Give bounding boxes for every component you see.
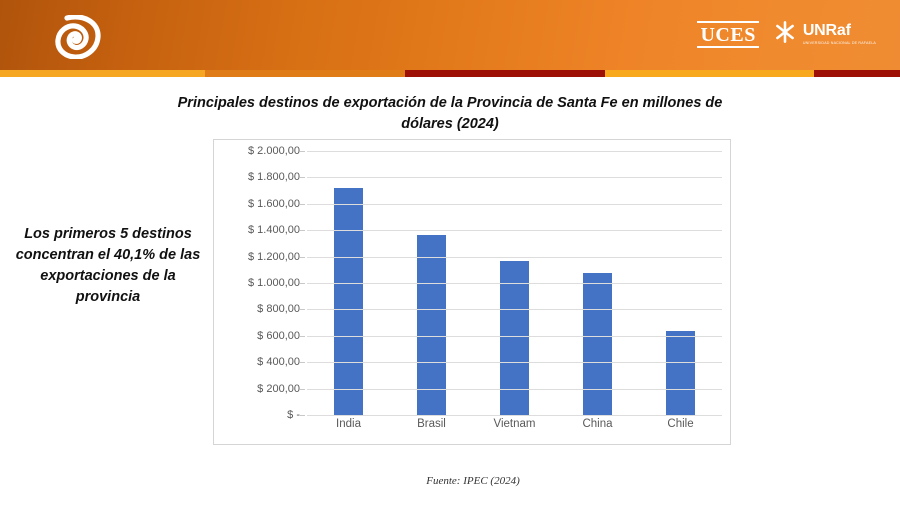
x-axis-label-brasil: Brasil bbox=[390, 418, 473, 430]
y-axis-tick-label: $ 800,00 bbox=[257, 303, 300, 315]
gridline bbox=[307, 230, 722, 231]
stripe-darkred-1 bbox=[405, 70, 605, 77]
gridline bbox=[307, 415, 722, 416]
bar-india[interactable] bbox=[334, 188, 363, 415]
stripe-amber-1 bbox=[0, 70, 205, 77]
y-axis-tick-label: $ 600,00 bbox=[257, 330, 300, 342]
gridline bbox=[307, 151, 722, 152]
plot-area bbox=[307, 151, 722, 415]
x-axis-label-china: China bbox=[556, 418, 639, 430]
gridline bbox=[307, 204, 722, 205]
y-axis-tickmark bbox=[300, 283, 305, 284]
page-header: UCES UNRaf UNIVERSIDAD NACIONAL DE RAFAE… bbox=[0, 0, 900, 70]
y-axis-tick-label: $ 1.800,00 bbox=[248, 171, 300, 183]
gridline bbox=[307, 336, 722, 337]
unraf-logo-text: UNRaf UNIVERSIDAD NACIONAL DE RAFAELA bbox=[803, 23, 876, 46]
x-axis-label-vietnam: Vietnam bbox=[473, 418, 556, 430]
y-axis-tick-label: $ 1.200,00 bbox=[248, 251, 300, 263]
spiral-eye-logo bbox=[55, 15, 101, 59]
header-logos: UCES UNRaf UNIVERSIDAD NACIONAL DE RAFAE… bbox=[697, 20, 876, 49]
chart-plot-wrapper: $ 2.000,00$ 1.800,00$ 1.600,00$ 1.400,00… bbox=[214, 140, 730, 444]
y-axis-tick-label: $ 2.000,00 bbox=[248, 145, 300, 157]
y-axis-tickmark bbox=[300, 151, 305, 152]
y-axis-tickmark bbox=[300, 362, 305, 363]
asterisk-star-icon bbox=[773, 20, 797, 49]
gridline bbox=[307, 257, 722, 258]
x-axis: IndiaBrasilVietnamChinaChile bbox=[307, 418, 722, 430]
stripe-amber-2 bbox=[605, 70, 815, 77]
y-axis-tick-label: $ 200,00 bbox=[257, 383, 300, 395]
stripe-darkred-2 bbox=[814, 70, 900, 77]
y-axis-tickmark bbox=[300, 389, 305, 390]
uces-logo: UCES bbox=[697, 21, 758, 48]
unraf-logo-subtitle: UNIVERSIDAD NACIONAL DE RAFAELA bbox=[803, 41, 876, 46]
y-axis-tick-label: $ 1.400,00 bbox=[248, 224, 300, 236]
unraf-logo-name: UNRaf bbox=[803, 23, 876, 39]
y-axis: $ 2.000,00$ 1.800,00$ 1.600,00$ 1.400,00… bbox=[218, 151, 300, 415]
x-axis-label-chile: Chile bbox=[639, 418, 722, 430]
y-axis-tickmark bbox=[300, 204, 305, 205]
y-axis-tickmark bbox=[300, 415, 305, 416]
bar-chile[interactable] bbox=[666, 331, 695, 415]
gridline bbox=[307, 362, 722, 363]
gridline bbox=[307, 283, 722, 284]
stripe-orange-1 bbox=[205, 70, 405, 77]
y-axis-tickmark bbox=[300, 309, 305, 310]
y-axis-tickmark bbox=[300, 257, 305, 258]
y-axis-tick-label: $ 1.000,00 bbox=[248, 277, 300, 289]
unraf-logo: UNRaf UNIVERSIDAD NACIONAL DE RAFAELA bbox=[773, 20, 876, 49]
chart-frame: $ 2.000,00$ 1.800,00$ 1.600,00$ 1.400,00… bbox=[213, 139, 731, 445]
x-axis-label-india: India bbox=[307, 418, 390, 430]
chart-title: Principales destinos de exportación de l… bbox=[160, 93, 740, 135]
y-axis-tick-label: $ - bbox=[287, 409, 300, 421]
y-axis-tick-label: $ 1.600,00 bbox=[248, 198, 300, 210]
y-axis-tick-label: $ 400,00 bbox=[257, 356, 300, 368]
gridline bbox=[307, 177, 722, 178]
y-axis-tickmark bbox=[300, 177, 305, 178]
bar-vietnam[interactable] bbox=[500, 261, 529, 415]
callout-text: Los primeros 5 destinos concentran el 40… bbox=[12, 224, 204, 308]
source-note: Fuente: IPEC (2024) bbox=[283, 475, 663, 487]
y-axis-tickmark bbox=[300, 336, 305, 337]
bar-china[interactable] bbox=[583, 273, 612, 415]
header-color-stripe bbox=[0, 70, 900, 77]
y-axis-tickmark bbox=[300, 230, 305, 231]
gridline bbox=[307, 389, 722, 390]
gridline bbox=[307, 309, 722, 310]
